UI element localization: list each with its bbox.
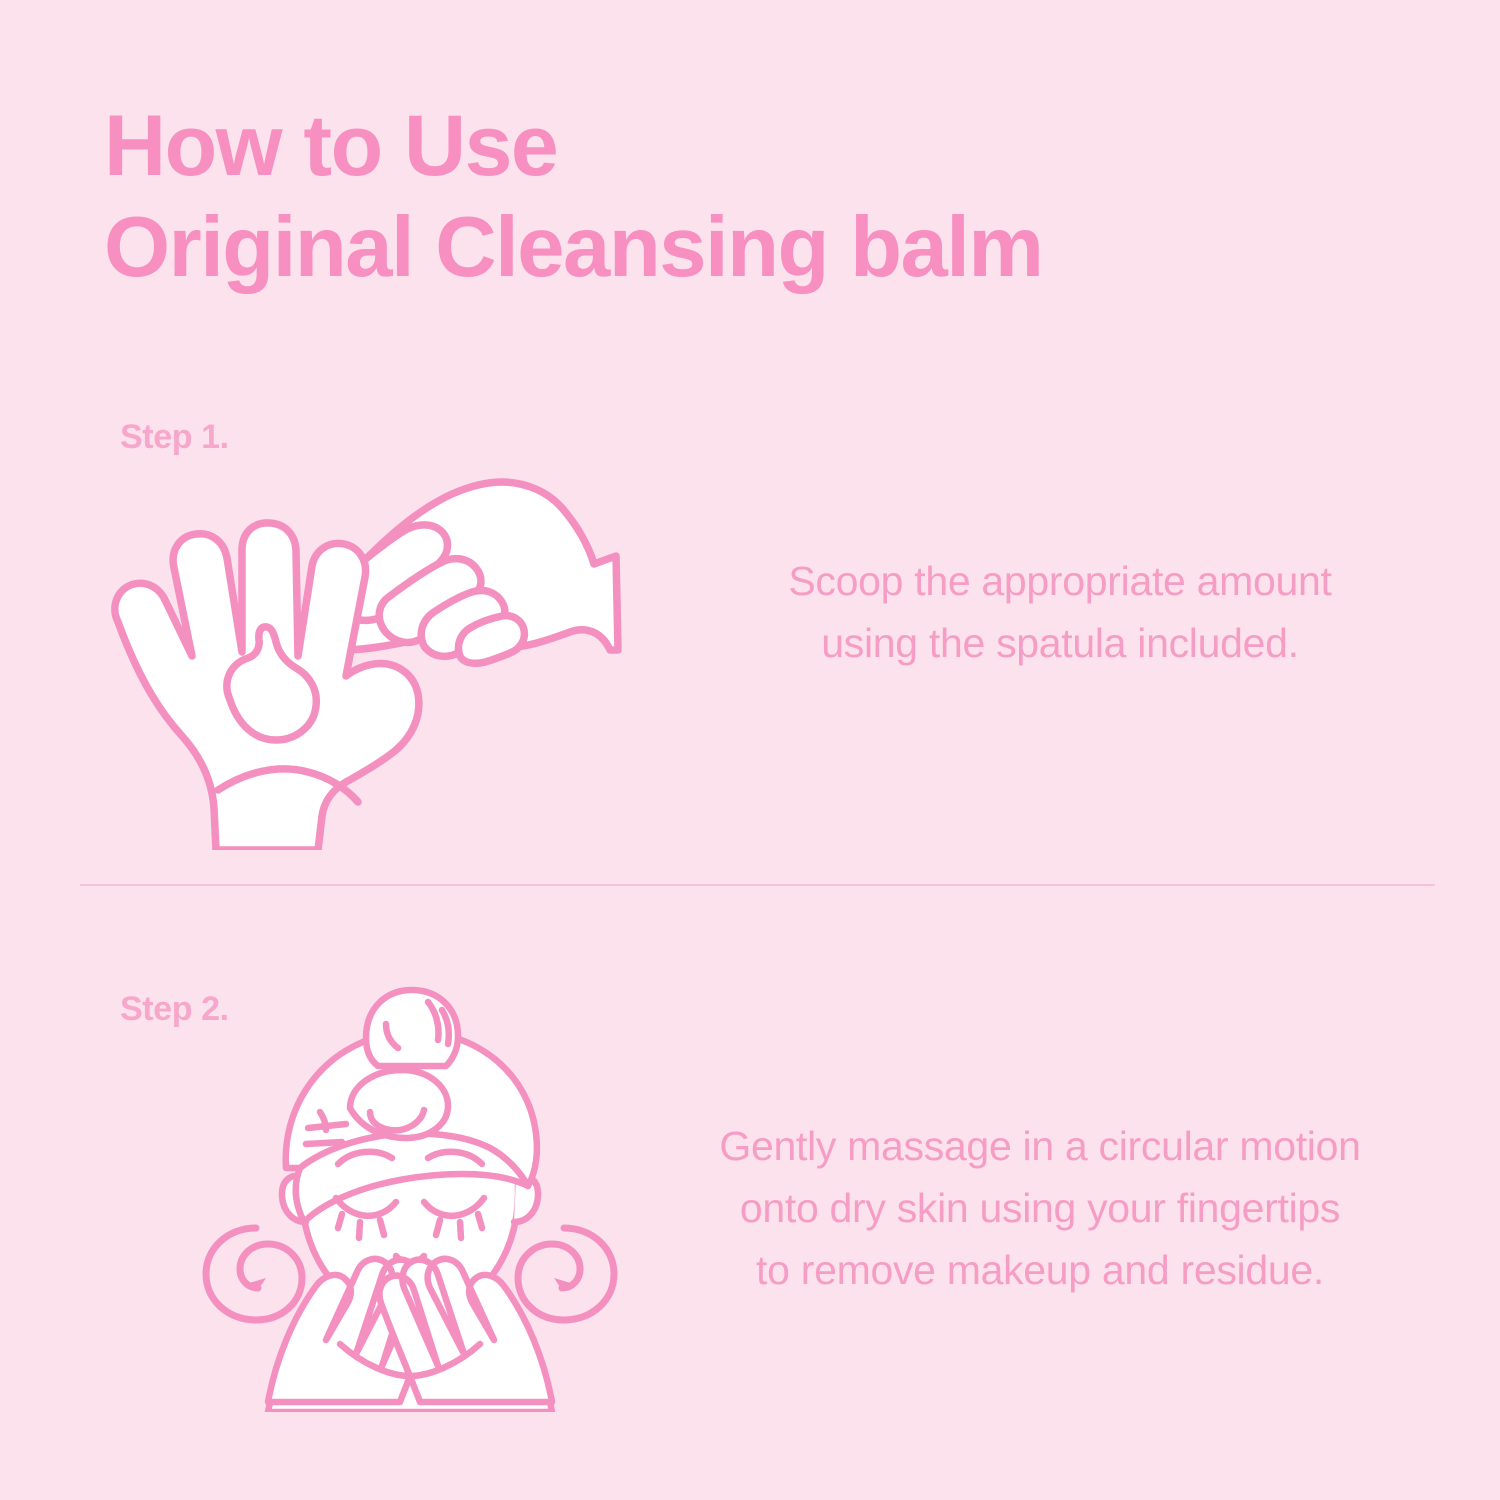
page-title-line-2: Original Cleansing balm — [104, 197, 1304, 298]
how-to-use-infographic: How to Use Original Cleansing balm Step … — [0, 0, 1500, 1500]
step-1-description-line-2: using the spatula included. — [700, 612, 1420, 674]
step-1-description: Scoop the appropriate amount using the s… — [700, 550, 1420, 674]
section-divider — [80, 884, 1435, 886]
step-2-description-line-3: to remove makeup and residue. — [660, 1239, 1420, 1301]
circular-motion-arrow-left-icon — [206, 1228, 302, 1320]
step-1-row: Step 1. — [0, 400, 1500, 850]
page-title-line-1: How to Use — [104, 96, 1304, 197]
woman-massaging-face-icon — [190, 972, 630, 1412]
hand-scooping-balm-icon — [96, 460, 656, 850]
page-title: How to Use Original Cleansing balm — [104, 96, 1304, 298]
step-1-description-line-1: Scoop the appropriate amount — [700, 550, 1420, 612]
circular-motion-arrow-right-icon — [518, 1228, 614, 1320]
step-2-description-line-2: onto dry skin using your fingertips — [660, 1177, 1420, 1239]
step-1-label: Step 1. — [120, 418, 229, 457]
step-2-row: Step 2. — [0, 960, 1500, 1430]
step-2-description-line-1: Gently massage in a circular motion — [660, 1115, 1420, 1177]
step-2-description: Gently massage in a circular motion onto… — [660, 1115, 1420, 1301]
